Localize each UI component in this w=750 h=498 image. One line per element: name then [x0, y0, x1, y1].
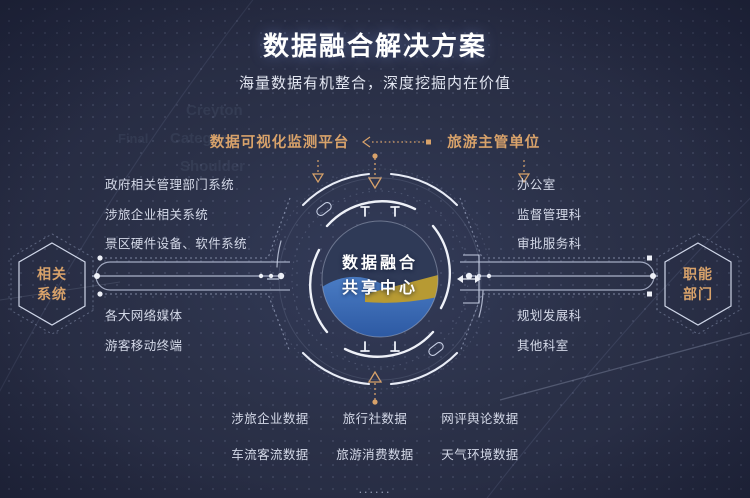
hexagon-right-line1: 职能	[683, 264, 713, 284]
list-item[interactable]: 其他科室	[517, 340, 582, 353]
page-title: 数据融合解决方案	[0, 26, 750, 63]
watermark-text: Creyton	[186, 102, 243, 119]
bottom-grid-ellipsis: ......	[359, 482, 392, 496]
watermark-text: Shoulder	[180, 158, 245, 175]
list-item[interactable]: 网评舆论数据	[428, 408, 533, 427]
list-item[interactable]: 办公室	[517, 179, 582, 192]
infographic-canvas: Creyton Category Shoulder Final 数据融合解决方案…	[0, 0, 750, 498]
hexagon-left-label: 相关 系统	[6, 231, 98, 337]
list-item[interactable]: 景区硬件设备、软件系统	[105, 238, 247, 251]
bottom-grid-row: 车流客流数据 旅游消费数据 天气环境数据	[218, 444, 533, 463]
list-item[interactable]: 天气环境数据	[428, 444, 533, 463]
label-tourism-authority[interactable]: 旅游主管单位	[447, 131, 540, 152]
list-item[interactable]: 游客移动终端	[105, 340, 182, 353]
core-hub[interactable]: 数据融合 共享中心	[265, 163, 495, 395]
hexagon-left-line1: 相关	[37, 264, 67, 284]
label-visualization-platform[interactable]: 数据可视化监测平台	[210, 131, 350, 152]
hexagon-left-line2: 系统	[37, 284, 67, 304]
list-item[interactable]: 各大网络媒体	[105, 310, 182, 323]
list-item[interactable]: 审批服务科	[517, 238, 582, 251]
dotted-arrow-left-icon	[361, 136, 435, 148]
list-item[interactable]: 车流客流数据	[218, 444, 323, 463]
list-item[interactable]: 旅游消费数据	[323, 444, 428, 463]
bottom-grid-row: 涉旅企业数据 旅行社数据 网评舆论数据	[218, 408, 533, 427]
list-item[interactable]: 监督管理科	[517, 209, 582, 222]
list-right-top: 办公室 监督管理科 审批服务科	[517, 179, 582, 268]
top-label-row: 数据可视化监测平台 旅游主管单位	[0, 131, 750, 152]
list-left-top: 政府相关管理部门系统 涉旅企业相关系统 景区硬件设备、软件系统	[105, 179, 247, 268]
list-right-bottom: 规划发展科 其他科室	[517, 310, 582, 369]
list-item[interactable]: 涉旅企业数据	[218, 408, 323, 427]
hexagon-functional-departments[interactable]: 职能 部门	[652, 231, 744, 337]
list-left-bottom: 各大网络媒体 游客移动终端	[105, 310, 182, 369]
hexagon-related-systems[interactable]: 相关 系统	[6, 231, 98, 337]
bottom-data-grid: 涉旅企业数据 旅行社数据 网评舆论数据 车流客流数据 旅游消费数据 天气环境数据…	[0, 408, 750, 496]
hexagon-right-label: 职能 部门	[652, 231, 744, 337]
page-subtitle: 海量数据有机整合，深度挖掘内在价值	[0, 72, 750, 93]
list-item[interactable]: 政府相关管理部门系统	[105, 179, 247, 192]
list-item[interactable]: 旅行社数据	[323, 408, 428, 427]
list-item[interactable]: 规划发展科	[517, 310, 582, 323]
list-item[interactable]: 涉旅企业相关系统	[105, 209, 247, 222]
hexagon-right-line2: 部门	[683, 284, 713, 304]
